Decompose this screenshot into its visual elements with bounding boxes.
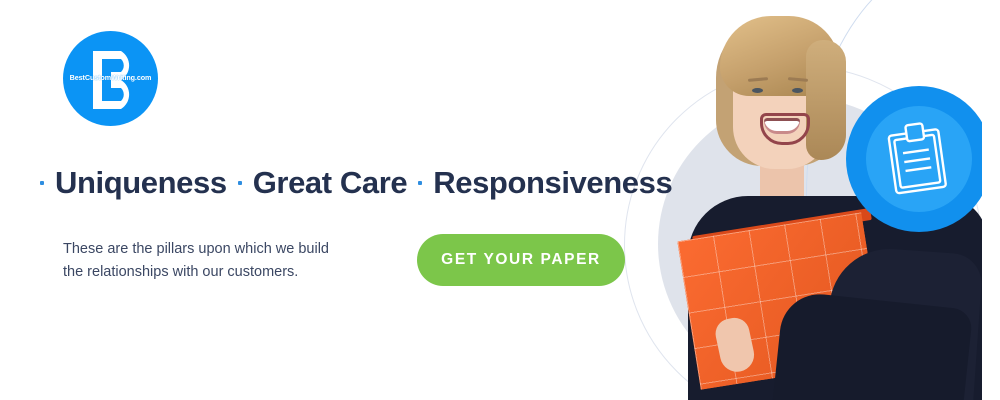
headline-item-responsiveness: Responsiveness [433,160,672,206]
lead-paragraph: These are the pillars upon which we buil… [63,238,363,284]
clipboard-badge [846,86,992,232]
sleeve [773,290,973,400]
separator-dot [418,181,422,185]
eye-left [752,88,763,93]
right-edge-mask [982,0,1000,400]
promo-banner: BestCustomWriting.com Uniqueness Great C… [0,0,1000,400]
separator-dot [238,181,242,185]
separator-dot [40,181,44,185]
hair-side [806,40,846,160]
lead-line-1: These are the pillars upon which we buil… [63,238,363,261]
headline-item-great-care: Great Care [253,160,408,206]
lead-line-2: the relationships with our customers. [63,261,363,284]
eye-right [792,88,803,93]
headline-item-uniqueness: Uniqueness [55,160,227,206]
get-your-paper-button[interactable]: GET YOUR PAPER [417,234,625,286]
headline: Uniqueness Great Care Responsiveness [40,160,672,206]
clipboard-icon [884,120,954,198]
logo-text: BestCustomWriting.com [63,73,158,82]
site-logo[interactable]: BestCustomWriting.com [63,31,158,126]
